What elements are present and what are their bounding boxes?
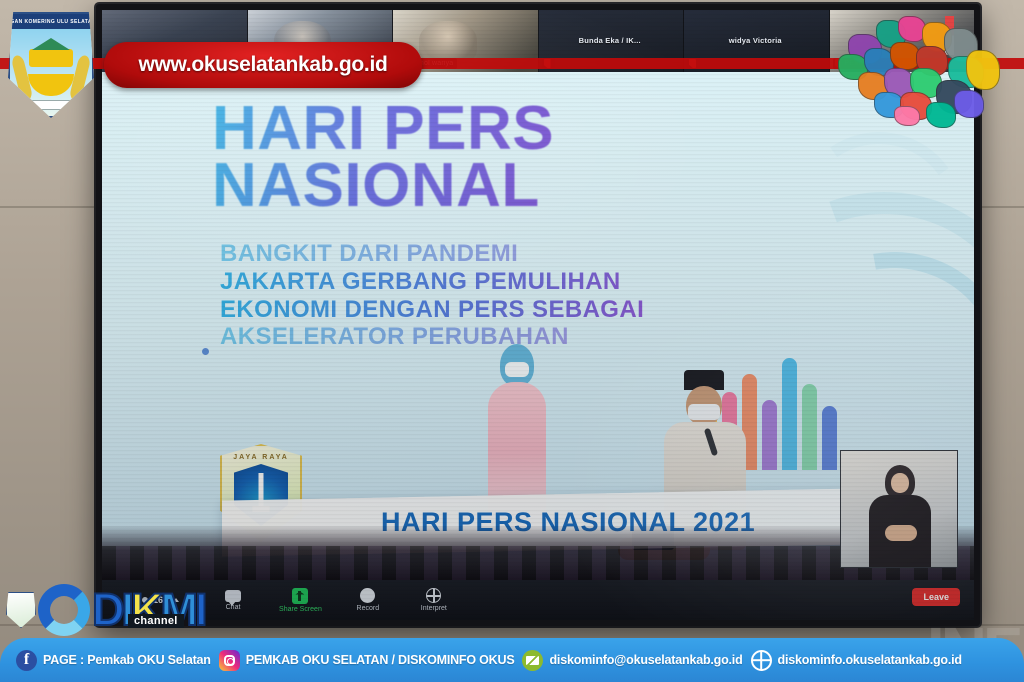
participant-name: Bunda Eka / IK... bbox=[579, 36, 641, 45]
website-text: diskominfo.okuselatankab.go.id bbox=[778, 653, 962, 667]
chat-icon bbox=[225, 590, 241, 602]
facebook-icon bbox=[16, 650, 37, 671]
contact-footer-bar: PAGE : Pemkab OKU Selatan PEMKAB OKU SEL… bbox=[0, 638, 1024, 682]
share-screen-button[interactable]: Share Screen bbox=[279, 588, 322, 613]
headline-line-2: NASIONAL bbox=[212, 157, 554, 214]
interpret-label: Interpret bbox=[421, 605, 447, 612]
interpreter-hands bbox=[885, 525, 917, 541]
map-region bbox=[966, 50, 1000, 90]
chat-button[interactable]: Chat bbox=[213, 590, 253, 611]
map-region bbox=[926, 102, 956, 128]
record-button[interactable]: Record bbox=[348, 588, 388, 612]
kabupaten-map-graphic bbox=[838, 6, 1008, 126]
traditional-house-icon bbox=[29, 49, 73, 67]
crest-bowl bbox=[28, 74, 74, 96]
dikmi-channel-watermark: D I K M I channel bbox=[6, 584, 205, 636]
website-icon bbox=[751, 650, 772, 671]
headline-line-1: HARI PERS bbox=[212, 100, 554, 157]
subtitle-line-3: EKONOMI DENGAN PERS SEBAGAI bbox=[220, 296, 644, 324]
decor-bar bbox=[782, 358, 797, 470]
email-text: diskominfo@okuselatankab.go.id bbox=[549, 653, 742, 667]
footer-item-instagram[interactable]: PEMKAB OKU SELATAN / DISKOMINFO OKUS bbox=[219, 650, 515, 671]
watermark-letter: I bbox=[195, 592, 205, 629]
map-region bbox=[894, 106, 920, 126]
instagram-text: PEMKAB OKU SELATAN / DISKOMINFO OKUS bbox=[246, 653, 515, 667]
footer-item-website[interactable]: diskominfo.okuselatankab.go.id bbox=[751, 650, 962, 671]
leave-meeting-button[interactable]: Leave bbox=[912, 588, 960, 606]
map-region bbox=[954, 90, 984, 118]
participant-name: widya Victoria bbox=[729, 36, 782, 45]
crest-band: OGAN KOMERING ULU SELATAN bbox=[10, 14, 92, 29]
facebook-text: PAGE : Pemkab OKU Selatan bbox=[43, 653, 211, 667]
interpret-button[interactable]: Interpret bbox=[414, 588, 454, 612]
record-icon bbox=[360, 588, 375, 603]
footer-item-facebook[interactable]: PAGE : Pemkab OKU Selatan bbox=[16, 650, 211, 671]
decor-bar bbox=[822, 406, 837, 470]
decor-bar bbox=[802, 384, 817, 470]
email-icon bbox=[522, 650, 543, 671]
emblem-motto: JAYA RAYA bbox=[233, 454, 289, 461]
footer-item-email[interactable]: diskominfo@okuselatankab.go.id bbox=[522, 650, 742, 671]
bullet-marker bbox=[202, 348, 209, 355]
record-label: Record bbox=[357, 605, 380, 612]
instagram-icon bbox=[219, 650, 240, 671]
watermark-ring-icon bbox=[38, 584, 90, 636]
subtitle-line-4: AKSELERATOR PERUBAHAN bbox=[220, 323, 644, 351]
website-url-banner: www.okuselatankab.go.id bbox=[104, 42, 422, 88]
watermark-letter: D bbox=[92, 592, 122, 629]
crest-band-text: OGAN KOMERING ULU SELATAN bbox=[6, 19, 96, 25]
participant-namebar: Bunda Eka / IK... bbox=[577, 35, 645, 46]
globe-icon bbox=[426, 588, 441, 603]
zoom-toolbar: 167 Chat Share Screen Record bbox=[102, 580, 974, 620]
watermark-crest-icon bbox=[6, 592, 36, 628]
website-url-text: www.okuselatankab.go.id bbox=[138, 53, 387, 77]
face-mask bbox=[688, 404, 720, 420]
participant-namebar: widya Victoria bbox=[727, 35, 786, 46]
subtitle-line-1: BANGKIT DARI PANDEMI bbox=[220, 240, 644, 268]
decor-bar bbox=[762, 400, 777, 470]
slide-subtitle: BANGKIT DARI PANDEMI JAKARTA GERBANG PEM… bbox=[220, 240, 644, 351]
share-screen-icon bbox=[292, 588, 308, 604]
slide-headline: HARI PERS NASIONAL bbox=[212, 100, 554, 214]
face-mask bbox=[505, 362, 529, 377]
interpreter-face bbox=[891, 473, 909, 493]
subtitle-line-2: JAKARTA GERBANG PEMULIHAN bbox=[220, 268, 644, 296]
toolbar-buttons: Chat Share Screen Record Interpret bbox=[213, 588, 454, 613]
share-screen-label: Share Screen bbox=[279, 606, 322, 613]
watermark-channel-label: channel bbox=[128, 614, 184, 628]
interpreter-video-thumbnail[interactable] bbox=[840, 450, 958, 568]
